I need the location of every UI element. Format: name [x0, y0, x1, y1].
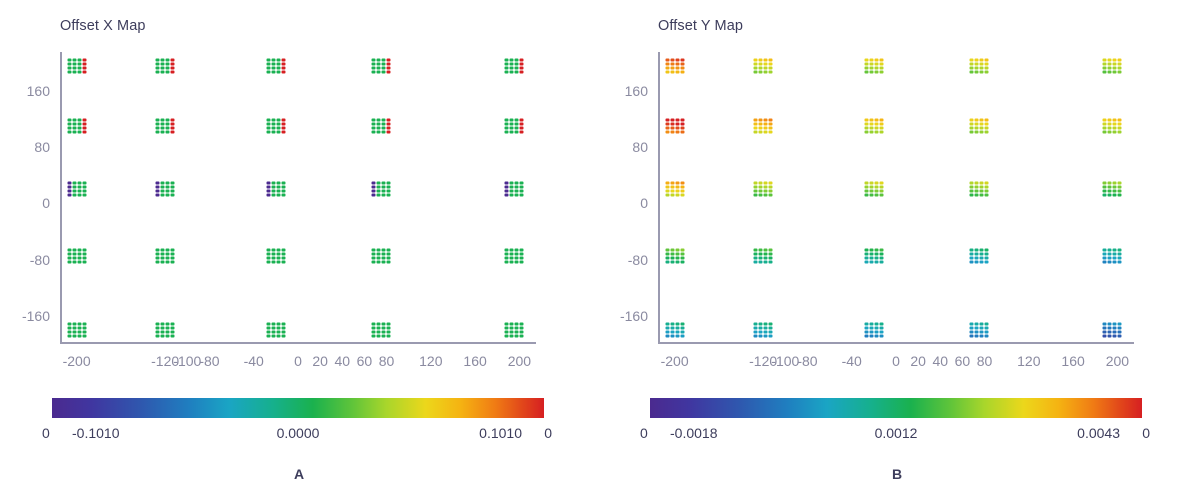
- data-point: [869, 322, 873, 325]
- data-point: [665, 253, 669, 256]
- data-point: [975, 122, 979, 125]
- data-point: [504, 249, 508, 252]
- data-point: [166, 122, 170, 125]
- data-point: [514, 118, 518, 121]
- data-point: [769, 63, 773, 66]
- data-point: [670, 257, 674, 260]
- data-point: [166, 253, 170, 256]
- data-point: [372, 326, 376, 329]
- data-point: [72, 190, 76, 193]
- data-point: [675, 63, 679, 66]
- data-point: [1102, 130, 1106, 133]
- data-point: [77, 182, 81, 185]
- data-point: [665, 322, 669, 325]
- data-point: [975, 322, 979, 325]
- data-point: [665, 249, 669, 252]
- data-point: [869, 190, 873, 193]
- data-point: [764, 59, 768, 62]
- data-point: [665, 190, 669, 193]
- data-cluster: [970, 322, 989, 337]
- data-point: [759, 71, 763, 74]
- data-point: [670, 118, 674, 121]
- data-point: [670, 326, 674, 329]
- data-point: [171, 249, 175, 252]
- data-point: [754, 130, 758, 133]
- data-point: [67, 253, 71, 256]
- data-point: [504, 63, 508, 66]
- x-tick-label: -200: [661, 353, 689, 369]
- data-point: [372, 322, 376, 325]
- data-point: [764, 186, 768, 189]
- data-point: [372, 334, 376, 337]
- data-point: [665, 186, 669, 189]
- data-point: [72, 118, 76, 121]
- data-point: [670, 71, 674, 74]
- data-point: [382, 334, 386, 337]
- data-point: [879, 249, 883, 252]
- data-point: [67, 122, 71, 125]
- data-point: [874, 186, 878, 189]
- data-point: [171, 59, 175, 62]
- data-point: [387, 63, 391, 66]
- data-point: [864, 122, 868, 125]
- data-point: [276, 67, 280, 70]
- data-point: [869, 253, 873, 256]
- data-point: [166, 59, 170, 62]
- x-tick-label: 0: [892, 353, 900, 369]
- data-point: [874, 118, 878, 121]
- data-point: [864, 257, 868, 260]
- colorbar-lead-label-b: 0: [640, 425, 648, 441]
- data-point: [980, 63, 984, 66]
- data-point: [161, 71, 165, 74]
- data-point: [509, 253, 513, 256]
- data-point: [281, 326, 285, 329]
- data-point: [970, 334, 974, 337]
- data-point: [161, 253, 165, 256]
- data-point: [156, 186, 160, 189]
- data-point: [769, 67, 773, 70]
- data-point: [864, 326, 868, 329]
- data-point: [377, 59, 381, 62]
- data-point: [266, 122, 270, 125]
- data-point: [874, 126, 878, 129]
- data-point: [985, 67, 989, 70]
- data-point: [82, 71, 86, 74]
- data-point: [869, 67, 873, 70]
- data-point: [680, 190, 684, 193]
- data-point: [504, 194, 508, 197]
- data-point: [281, 59, 285, 62]
- data-point: [514, 334, 518, 337]
- data-point: [82, 253, 86, 256]
- data-cluster: [970, 118, 989, 133]
- data-point: [680, 257, 684, 260]
- data-point: [161, 194, 165, 197]
- data-point: [764, 334, 768, 337]
- data-point: [82, 118, 86, 121]
- data-point: [161, 322, 165, 325]
- colorbar-gradient-b: [650, 398, 1142, 418]
- data-point: [980, 261, 984, 264]
- data-point: [864, 63, 868, 66]
- data-point: [519, 253, 523, 256]
- data-point: [161, 330, 165, 333]
- data-point: [675, 257, 679, 260]
- data-point: [504, 118, 508, 121]
- data-point: [67, 182, 71, 185]
- data-point: [271, 59, 275, 62]
- data-point: [985, 253, 989, 256]
- data-point: [166, 261, 170, 264]
- data-point: [276, 63, 280, 66]
- data-point: [166, 334, 170, 337]
- data-point: [759, 330, 763, 333]
- data-point: [382, 330, 386, 333]
- data-point: [72, 130, 76, 133]
- data-point: [67, 67, 71, 70]
- data-point: [72, 326, 76, 329]
- data-point: [72, 122, 76, 125]
- data-point: [759, 122, 763, 125]
- data-point: [670, 249, 674, 252]
- data-point: [1117, 257, 1121, 260]
- data-point: [276, 186, 280, 189]
- data-point: [504, 59, 508, 62]
- data-point: [271, 186, 275, 189]
- data-point: [377, 322, 381, 325]
- data-point: [980, 182, 984, 185]
- data-point: [372, 249, 376, 252]
- data-point: [769, 334, 773, 337]
- data-point: [759, 261, 763, 264]
- data-point: [975, 67, 979, 70]
- data-point: [514, 190, 518, 193]
- colorbar-mid-label-b: 0.0012: [875, 425, 918, 441]
- data-point: [509, 190, 513, 193]
- data-point: [382, 122, 386, 125]
- data-point: [161, 122, 165, 125]
- data-point: [77, 63, 81, 66]
- data-point: [665, 330, 669, 333]
- data-point: [1112, 63, 1116, 66]
- data-cluster: [754, 249, 773, 264]
- data-point: [387, 257, 391, 260]
- data-point: [514, 322, 518, 325]
- data-point: [1112, 253, 1116, 256]
- data-point: [372, 194, 376, 197]
- data-point: [869, 334, 873, 337]
- data-point: [266, 182, 270, 185]
- data-point: [387, 126, 391, 129]
- figure-root: Offset X Map 160800-80-160 -200-100-120-…: [0, 0, 1196, 502]
- data-point: [769, 186, 773, 189]
- data-point: [519, 194, 523, 197]
- data-point: [166, 190, 170, 193]
- data-point: [1107, 118, 1111, 121]
- data-point: [171, 190, 175, 193]
- data-point: [281, 330, 285, 333]
- data-point: [166, 326, 170, 329]
- data-point: [879, 322, 883, 325]
- data-point: [864, 322, 868, 325]
- data-point: [769, 182, 773, 185]
- data-point: [161, 130, 165, 133]
- data-point: [754, 118, 758, 121]
- data-point: [1107, 326, 1111, 329]
- data-point: [67, 63, 71, 66]
- data-point: [970, 330, 974, 333]
- y-axis-line-a: [60, 52, 62, 344]
- data-point: [377, 182, 381, 185]
- data-point: [675, 122, 679, 125]
- panel-letter-a: A: [0, 466, 598, 482]
- data-point: [985, 63, 989, 66]
- x-tick-label: 40: [932, 353, 948, 369]
- data-point: [680, 182, 684, 185]
- data-point: [519, 122, 523, 125]
- data-point: [874, 67, 878, 70]
- data-point: [266, 326, 270, 329]
- data-point: [281, 122, 285, 125]
- data-point: [509, 330, 513, 333]
- data-cluster: [970, 182, 989, 197]
- data-point: [514, 130, 518, 133]
- data-point: [1117, 330, 1121, 333]
- data-cluster: [372, 249, 391, 264]
- data-point: [266, 71, 270, 74]
- data-point: [387, 59, 391, 62]
- data-point: [970, 126, 974, 129]
- data-point: [675, 130, 679, 133]
- data-point: [1117, 130, 1121, 133]
- data-point: [1107, 190, 1111, 193]
- data-point: [82, 261, 86, 264]
- data-point: [171, 118, 175, 121]
- data-point: [82, 63, 86, 66]
- data-point: [1117, 67, 1121, 70]
- data-point: [1107, 182, 1111, 185]
- data-point: [509, 249, 513, 252]
- data-point: [1107, 122, 1111, 125]
- data-point: [1102, 59, 1106, 62]
- data-point: [82, 182, 86, 185]
- data-point: [82, 194, 86, 197]
- data-point: [161, 126, 165, 129]
- data-point: [504, 71, 508, 74]
- data-point: [975, 118, 979, 121]
- data-point: [161, 118, 165, 121]
- data-point: [879, 118, 883, 121]
- data-point: [680, 194, 684, 197]
- data-point: [171, 126, 175, 129]
- data-point: [1112, 330, 1116, 333]
- data-point: [387, 194, 391, 197]
- data-point: [670, 194, 674, 197]
- data-point: [514, 182, 518, 185]
- data-point: [504, 330, 508, 333]
- x-tick-label: 200: [508, 353, 531, 369]
- data-point: [985, 190, 989, 193]
- data-point: [77, 249, 81, 252]
- y-tick-label: -160: [620, 308, 648, 324]
- data-point: [276, 190, 280, 193]
- data-point: [266, 194, 270, 197]
- data-point: [166, 126, 170, 129]
- data-point: [980, 330, 984, 333]
- data-point: [377, 130, 381, 133]
- panel-offset-x-map: Offset X Map 160800-80-160 -200-100-120-…: [0, 0, 598, 502]
- data-point: [1112, 130, 1116, 133]
- data-point: [680, 59, 684, 62]
- x-axis-line-b: [658, 342, 1134, 344]
- data-point: [509, 63, 513, 66]
- colorbar-b: 0 -0.0018 0.0012 0.0043 0: [650, 398, 1142, 447]
- data-point: [675, 249, 679, 252]
- data-point: [377, 330, 381, 333]
- data-point: [675, 67, 679, 70]
- data-point: [382, 322, 386, 325]
- data-point: [869, 186, 873, 189]
- data-point: [266, 190, 270, 193]
- data-point: [161, 67, 165, 70]
- data-point: [665, 261, 669, 264]
- data-point: [387, 186, 391, 189]
- data-point: [670, 253, 674, 256]
- data-point: [680, 63, 684, 66]
- data-point: [970, 67, 974, 70]
- data-point: [1117, 126, 1121, 129]
- data-point: [276, 326, 280, 329]
- data-point: [509, 122, 513, 125]
- data-point: [161, 257, 165, 260]
- data-point: [764, 257, 768, 260]
- data-point: [970, 253, 974, 256]
- data-cluster: [665, 118, 684, 133]
- data-point: [680, 126, 684, 129]
- data-point: [387, 71, 391, 74]
- data-point: [509, 130, 513, 133]
- data-point: [281, 334, 285, 337]
- data-point: [77, 253, 81, 256]
- data-point: [271, 126, 275, 129]
- x-tick-label: -80: [199, 353, 219, 369]
- data-point: [675, 322, 679, 325]
- data-point: [1112, 186, 1116, 189]
- data-point: [980, 59, 984, 62]
- data-point: [759, 334, 763, 337]
- data-point: [271, 67, 275, 70]
- data-point: [67, 59, 71, 62]
- data-point: [665, 118, 669, 121]
- data-point: [980, 249, 984, 252]
- data-point: [509, 118, 513, 121]
- data-point: [874, 257, 878, 260]
- data-point: [680, 334, 684, 337]
- data-point: [670, 334, 674, 337]
- data-point: [266, 334, 270, 337]
- data-point: [266, 63, 270, 66]
- data-point: [72, 261, 76, 264]
- colorbar-labels-a: 0 -0.1010 0.0000 0.1010 0: [52, 425, 544, 447]
- x-tick-label: 20: [312, 353, 328, 369]
- panel-letter-a-text: A: [294, 466, 304, 482]
- data-point: [970, 257, 974, 260]
- data-point: [509, 59, 513, 62]
- data-point: [382, 118, 386, 121]
- data-point: [754, 261, 758, 264]
- data-point: [372, 67, 376, 70]
- data-point: [266, 253, 270, 256]
- data-point: [680, 249, 684, 252]
- data-point: [879, 126, 883, 129]
- data-point: [670, 130, 674, 133]
- y-tick-label: 0: [42, 195, 50, 211]
- data-point: [754, 326, 758, 329]
- data-point: [514, 67, 518, 70]
- data-point: [514, 261, 518, 264]
- data-point: [281, 190, 285, 193]
- data-point: [1102, 257, 1106, 260]
- data-point: [675, 253, 679, 256]
- data-point: [764, 253, 768, 256]
- data-point: [504, 130, 508, 133]
- data-point: [281, 261, 285, 264]
- data-point: [72, 63, 76, 66]
- data-point: [985, 130, 989, 133]
- y-tick-label: -80: [30, 252, 50, 268]
- data-point: [869, 63, 873, 66]
- data-cluster: [754, 322, 773, 337]
- data-point: [171, 122, 175, 125]
- data-point: [509, 67, 513, 70]
- data-point: [754, 257, 758, 260]
- data-point: [161, 249, 165, 252]
- data-point: [869, 122, 873, 125]
- data-point: [980, 130, 984, 133]
- data-point: [680, 186, 684, 189]
- data-point: [675, 186, 679, 189]
- data-point: [271, 330, 275, 333]
- data-point: [675, 330, 679, 333]
- data-point: [869, 59, 873, 62]
- data-point: [171, 326, 175, 329]
- data-cluster: [864, 249, 883, 264]
- data-point: [156, 334, 160, 337]
- data-point: [680, 118, 684, 121]
- data-point: [281, 194, 285, 197]
- data-point: [161, 63, 165, 66]
- data-point: [1107, 67, 1111, 70]
- data-point: [764, 261, 768, 264]
- data-point: [970, 130, 974, 133]
- data-point: [670, 261, 674, 264]
- data-point: [377, 326, 381, 329]
- data-point: [514, 71, 518, 74]
- data-point: [1102, 63, 1106, 66]
- data-point: [1102, 182, 1106, 185]
- data-cluster: [156, 322, 175, 337]
- x-tick-label: -80: [797, 353, 817, 369]
- data-point: [1102, 261, 1106, 264]
- data-point: [271, 130, 275, 133]
- data-point: [156, 122, 160, 125]
- data-point: [72, 59, 76, 62]
- x-axis-line-a: [60, 342, 536, 344]
- data-point: [387, 190, 391, 193]
- data-point: [985, 118, 989, 121]
- data-point: [879, 59, 883, 62]
